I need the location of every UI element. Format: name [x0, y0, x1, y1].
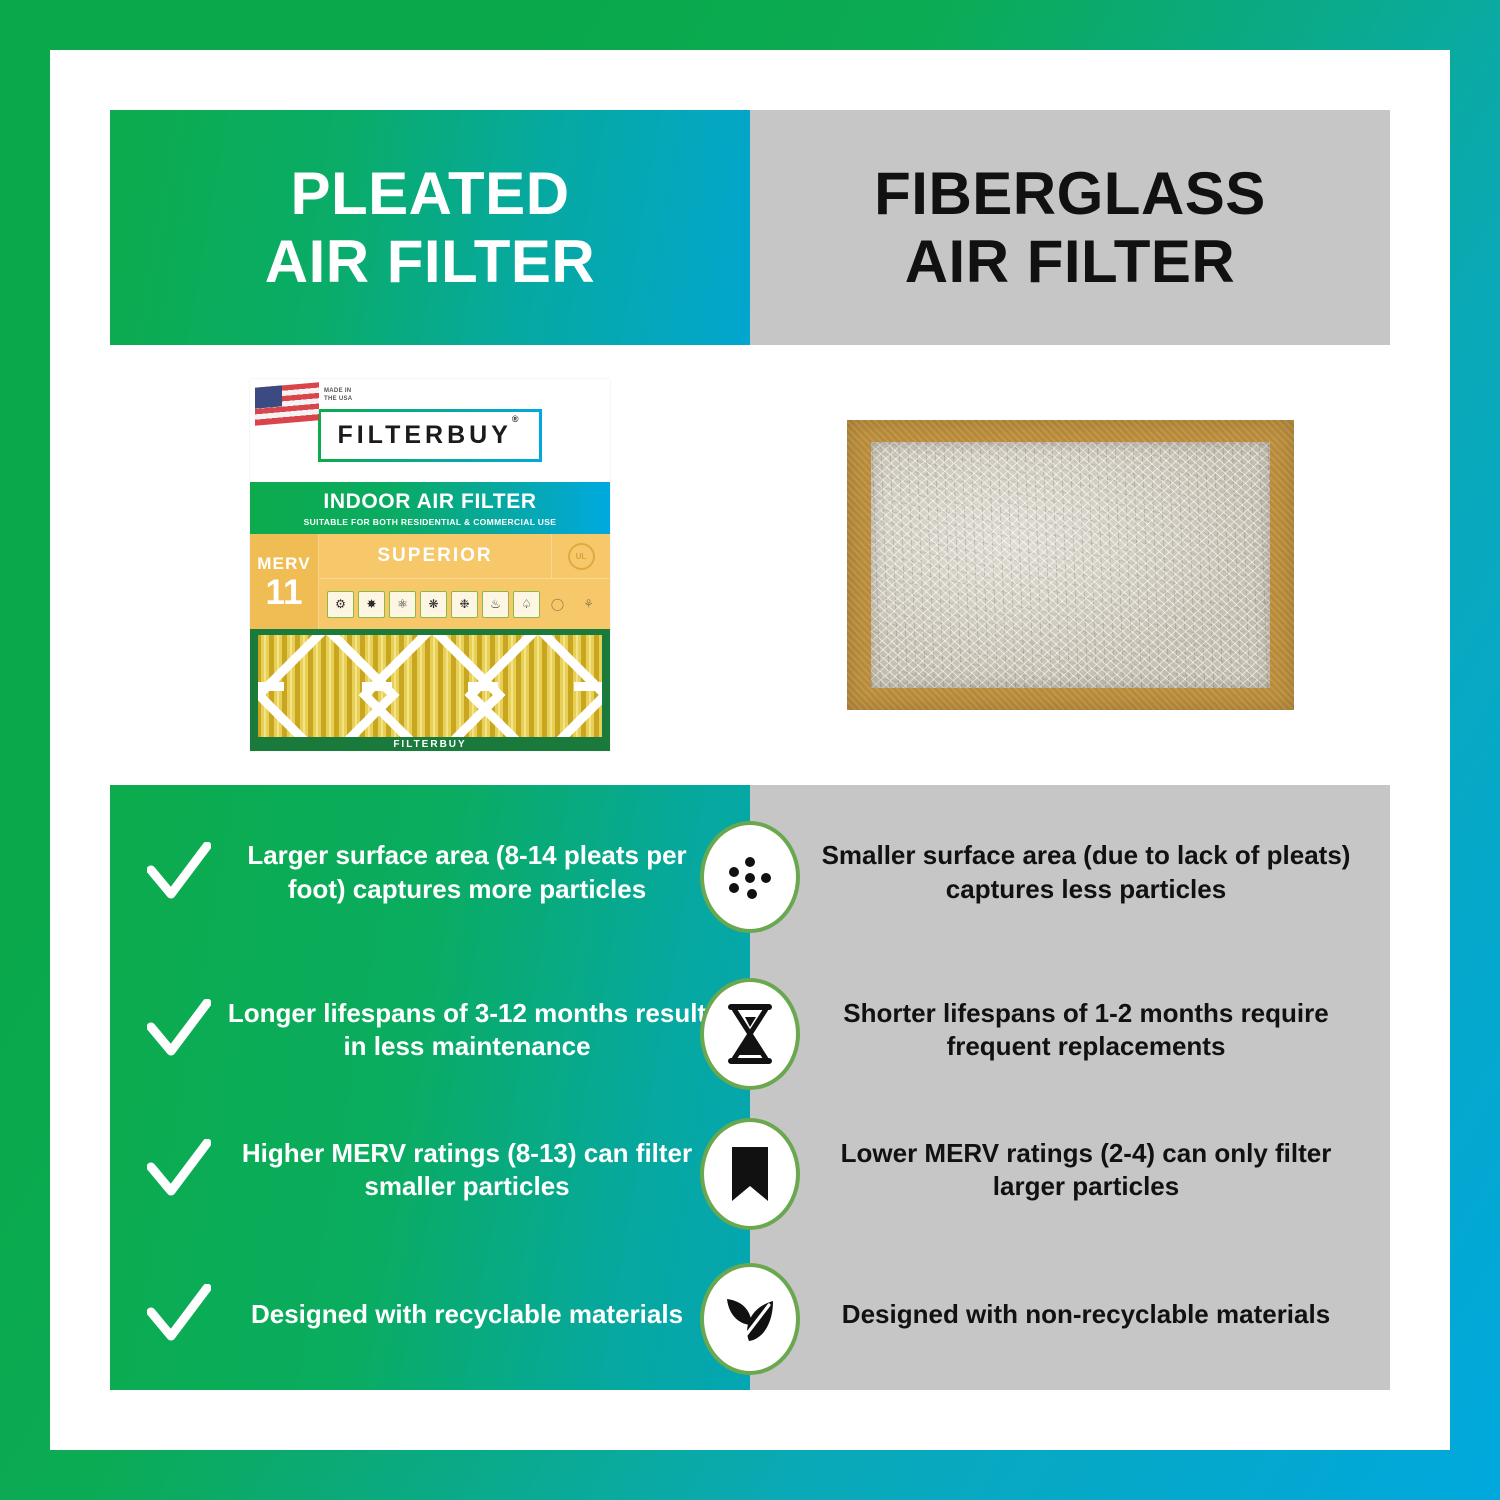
checkmark-icon — [140, 1139, 218, 1201]
box-merv-row: MERV 11 SUPERIOR UL ⚙ ✸ ⚛ — [250, 534, 610, 629]
comparison-row-right: Smaller surface area (due to lack of ple… — [750, 785, 1390, 960]
lattice-crossbars — [258, 682, 602, 691]
comparison-left-text: Higher MERV ratings (8-13) can filter sm… — [218, 1137, 750, 1204]
header-pleated: PLEATED AIR FILTER — [110, 110, 750, 345]
comparison-left-text: Longer lifespans of 3-12 months result i… — [218, 997, 750, 1064]
comparison-row-left: Larger surface area (8-14 pleats per foo… — [110, 785, 750, 960]
smoke-icon: ♤ — [513, 591, 540, 618]
comparison-left-text: Larger surface area (8-14 pleats per foo… — [218, 839, 750, 906]
box-footer-brand: FILTERBUY — [250, 739, 610, 750]
leaf-recycle-icon — [700, 1263, 800, 1375]
tier-label: SUPERIOR — [319, 545, 551, 567]
box-band-title: INDOOR AIR FILTER — [323, 490, 536, 514]
bookmark-icon — [700, 1118, 800, 1230]
header-row: PLEATED AIR FILTER FIBERGLASS AIR FILTER — [110, 110, 1390, 345]
made-in-usa-label: MADE INTHE USA — [324, 388, 352, 403]
bacteria-icon: ⚛ — [389, 591, 416, 618]
comparison-right-text: Lower MERV ratings (2-4) can only filter… — [750, 1137, 1360, 1204]
allergen-icon: ❉ — [451, 591, 478, 618]
pleat-field — [258, 635, 602, 737]
pollen-icon: ✸ — [358, 591, 385, 618]
product-image-row: MADE INTHE USA FILTERBUY® INDOOR AIR FIL… — [110, 345, 1390, 785]
checkmark-icon — [140, 999, 218, 1061]
comparison-row-left: Longer lifespans of 3-12 months result i… — [110, 960, 750, 1100]
checkmark-icon — [140, 1284, 218, 1346]
dust-icon: ⚙ — [327, 591, 354, 618]
box-band-subtitle: SUITABLE FOR BOTH RESIDENTIAL & COMMERCI… — [304, 517, 557, 527]
box-band: INDOOR AIR FILTER SUITABLE FOR BOTH RESI… — [250, 482, 610, 534]
filterbuy-box-image: MADE INTHE USA FILTERBUY® INDOOR AIR FIL… — [250, 379, 610, 751]
ul-certification-mark: UL — [551, 534, 610, 578]
brand-logo-text: FILTERBUY® — [337, 421, 522, 450]
fiberglass-product-cell — [750, 345, 1390, 785]
virus-icon: ⚘ — [575, 591, 602, 618]
mold-spores-icon: ❋ — [420, 591, 447, 618]
pet-dander-icon: ♨ — [482, 591, 509, 618]
odor-icon: ◯ — [544, 591, 571, 618]
header-fiberglass-line2: AIR FILTER — [874, 228, 1266, 295]
brand-trademark-icon: ® — [512, 414, 523, 424]
comparison-row-right: Designed with non-recyclable materials — [750, 1240, 1390, 1390]
brand-name: FILTERBUY — [337, 421, 511, 449]
checkmark-icon — [140, 842, 218, 904]
brand-logo-box: FILTERBUY® — [318, 409, 541, 462]
header-fiberglass: FIBERGLASS AIR FILTER — [750, 110, 1390, 345]
comparison-right-text: Smaller surface area (due to lack of ple… — [750, 839, 1360, 906]
particles-icon — [700, 821, 800, 933]
fiberglass-filter-image — [847, 420, 1294, 710]
box-merv-right: SUPERIOR UL ⚙ ✸ ⚛ ❋ ❉ ♨ ♤ — [319, 534, 610, 629]
fiberglass-mesh — [871, 442, 1270, 688]
merv-value: 11 — [266, 575, 303, 610]
comparison-block: Larger surface area (8-14 pleats per foo… — [110, 785, 1390, 1390]
header-pleated-title: PLEATED AIR FILTER — [265, 160, 596, 294]
header-fiberglass-line1: FIBERGLASS — [874, 160, 1266, 227]
comparison-row-left: Designed with recyclable materials — [110, 1240, 750, 1390]
header-pleated-line1: PLEATED — [265, 160, 596, 227]
usa-flag-icon — [255, 382, 319, 426]
header-pleated-line2: AIR FILTER — [265, 228, 596, 295]
comparison-right-text: Designed with non-recyclable materials — [750, 1298, 1360, 1331]
comparison-left-text: Designed with recyclable materials — [218, 1298, 750, 1331]
header-fiberglass-title: FIBERGLASS AIR FILTER — [874, 160, 1266, 294]
hourglass-icon — [700, 978, 800, 1090]
tier-row: SUPERIOR UL — [319, 534, 610, 579]
ul-circle-icon: UL — [568, 543, 595, 570]
comparison-row-right: Lower MERV ratings (2-4) can only filter… — [750, 1100, 1390, 1240]
merv-badge: MERV 11 — [250, 534, 319, 629]
merv-label: MERV — [257, 554, 311, 574]
infographic-canvas: PLEATED AIR FILTER FIBERGLASS AIR FILTER… — [110, 110, 1390, 1390]
comparison-row-left: Higher MERV ratings (8-13) can filter sm… — [110, 1100, 750, 1240]
box-top-section: MADE INTHE USA FILTERBUY® — [250, 379, 610, 482]
feature-icon-strip: ⚙ ✸ ⚛ ❋ ❉ ♨ ♤ ◯ ⚘ — [319, 579, 610, 629]
comparison-right-text: Shorter lifespans of 1-2 months require … — [750, 997, 1360, 1064]
comparison-row-right: Shorter lifespans of 1-2 months require … — [750, 960, 1390, 1100]
pleated-media-view: FILTERBUY — [250, 629, 610, 751]
pleated-product-cell: MADE INTHE USA FILTERBUY® INDOOR AIR FIL… — [110, 345, 750, 785]
